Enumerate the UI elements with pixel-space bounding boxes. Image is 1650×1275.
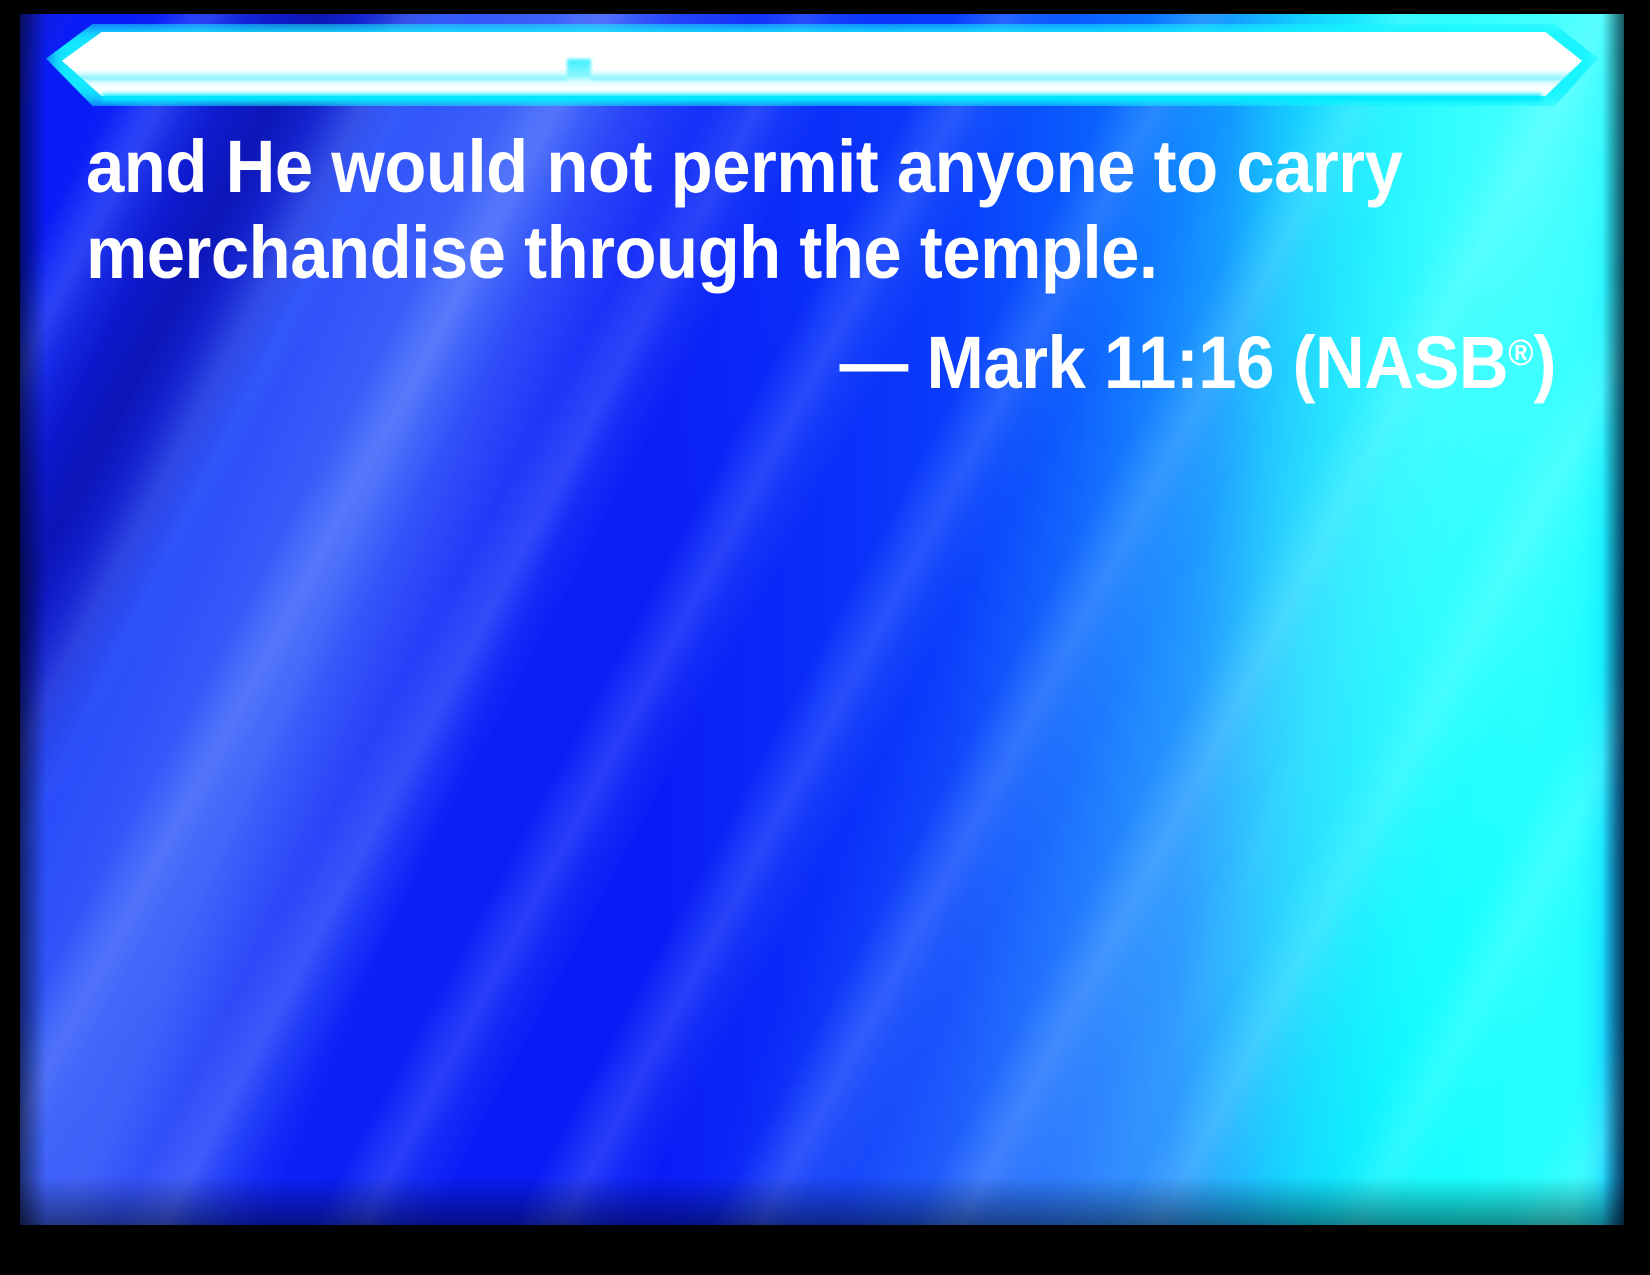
banner-notch-accent [567, 59, 591, 85]
attribution-spacer-2 [1085, 321, 1104, 404]
attribution-dash: — [840, 321, 908, 404]
verse-line-1: and He would not permit anyone to carry [86, 124, 1453, 210]
scripture-slide: and He would not permit anyone to carry … [0, 0, 1650, 1275]
decorative-banner-bar [62, 32, 1582, 96]
attribution-translation: NASB [1315, 321, 1508, 404]
attribution-book: Mark [927, 321, 1086, 404]
banner-cyan-underline [102, 94, 1543, 101]
scripture-attribution: — Mark 11:16 (NASB®) [189, 310, 1556, 406]
registered-trademark-icon: ® [1508, 332, 1533, 373]
verse-line-2: merchandise through the temple. [86, 210, 1453, 296]
slide-stage: and He would not permit anyone to carry … [20, 14, 1624, 1225]
attribution-spacer-1 [908, 321, 927, 404]
verse-text-block: and He would not permit anyone to carry … [86, 124, 1556, 406]
banner-white-face [62, 32, 1582, 96]
attribution-spacer-3 [1274, 321, 1293, 404]
attribution-close-paren: ) [1534, 321, 1556, 404]
attribution-open-paren: ( [1293, 321, 1315, 404]
attribution-reference: 11:16 [1104, 321, 1274, 404]
